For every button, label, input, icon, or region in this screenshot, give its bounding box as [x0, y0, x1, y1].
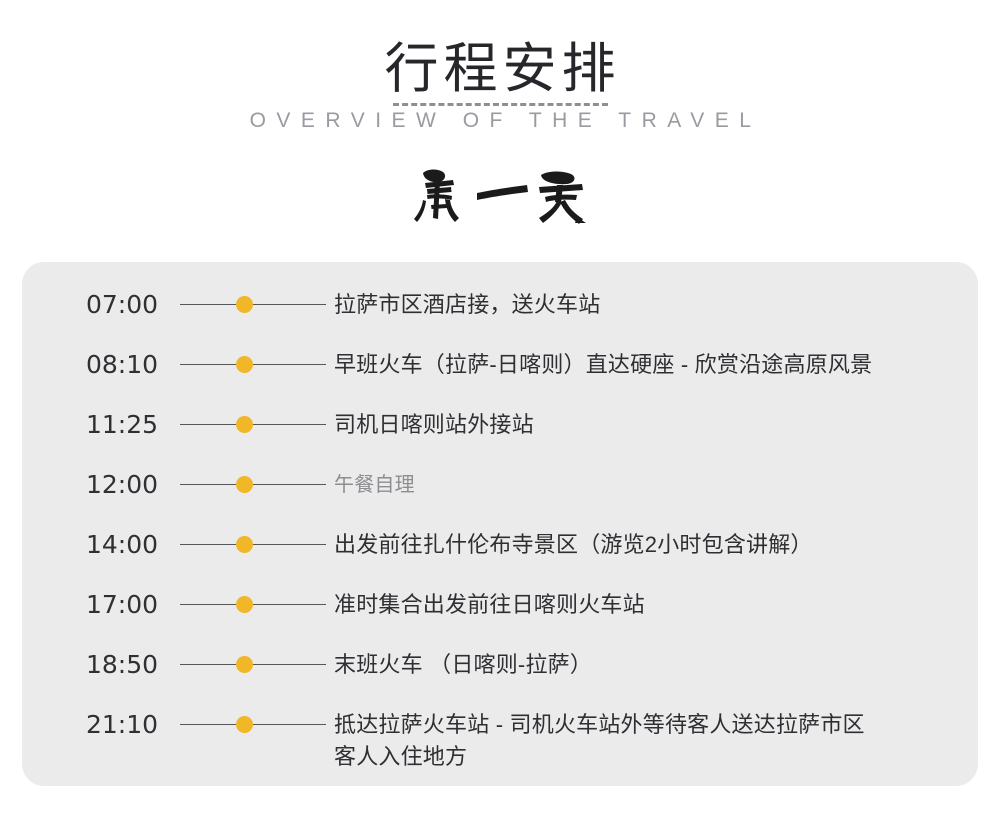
- timeline-dot-icon: [236, 356, 253, 373]
- timeline-line: [180, 484, 326, 485]
- timeline-line: [180, 304, 326, 305]
- itinerary-rows: 07:00拉萨市区酒店接，送火车站08:10早班火车（拉萨-日喀则）直达硬座 -…: [22, 276, 978, 784]
- title-dashed-divider: [393, 103, 608, 106]
- timeline-description: 拉萨市区酒店接，送火车站: [334, 276, 978, 321]
- timeline-description: 早班火车（拉萨-日喀则）直达硬座 - 欣赏沿途高原风景: [334, 336, 978, 381]
- timeline-description: 出发前往扎什伦布寺景区（游览2小时包含讲解）: [334, 516, 978, 561]
- timeline-connector: [162, 396, 334, 456]
- page-header: 行程安排 OVERVIEW OF THE TRAVEL: [0, 0, 1000, 135]
- timeline-description: 抵达拉萨火车站 - 司机火车站外等待客人送达拉萨市区 客人入住地方: [334, 696, 978, 773]
- timeline-row: 08:10早班火车（拉萨-日喀则）直达硬座 - 欣赏沿途高原风景: [22, 336, 978, 396]
- timeline-line: [180, 364, 326, 365]
- day-heading: [0, 161, 1000, 235]
- timeline-time: 14:00: [22, 516, 162, 562]
- timeline-time: 08:10: [22, 336, 162, 382]
- page-subtitle: OVERVIEW OF THE TRAVEL: [0, 107, 1000, 135]
- timeline-row: 11:25司机日喀则站外接站: [22, 396, 978, 456]
- timeline-connector: [162, 516, 334, 576]
- page-title: 行程安排: [0, 40, 1000, 98]
- timeline-dot-icon: [236, 536, 253, 553]
- timeline-connector: [162, 636, 334, 696]
- timeline-connector: [162, 696, 334, 756]
- timeline-row: 14:00出发前往扎什伦布寺景区（游览2小时包含讲解）: [22, 516, 978, 576]
- itinerary-panel: 07:00拉萨市区酒店接，送火车站08:10早班火车（拉萨-日喀则）直达硬座 -…: [22, 262, 978, 786]
- timeline-dot-icon: [236, 716, 253, 733]
- timeline-time: 17:00: [22, 576, 162, 622]
- timeline-dot-icon: [236, 656, 253, 673]
- timeline-line: [180, 544, 326, 545]
- timeline-time: 11:25: [22, 396, 162, 442]
- timeline-connector: [162, 276, 334, 336]
- timeline-row: 21:10抵达拉萨火车站 - 司机火车站外等待客人送达拉萨市区 客人入住地方: [22, 696, 978, 784]
- timeline-dot-icon: [236, 596, 253, 613]
- timeline-dot-icon: [236, 296, 253, 313]
- timeline-row: 17:00准时集合出发前往日喀则火车站: [22, 576, 978, 636]
- timeline-time: 07:00: [22, 276, 162, 322]
- timeline-line: [180, 664, 326, 665]
- timeline-line: [180, 424, 326, 425]
- timeline-line: [180, 604, 326, 605]
- timeline-time: 21:10: [22, 696, 162, 742]
- day-one-calligraphy-icon: [405, 161, 595, 231]
- timeline-row: 12:00午餐自理: [22, 456, 978, 516]
- timeline-description: 司机日喀则站外接站: [334, 396, 978, 441]
- timeline-connector: [162, 576, 334, 636]
- timeline-time: 12:00: [22, 456, 162, 502]
- timeline-connector: [162, 336, 334, 396]
- timeline-time: 18:50: [22, 636, 162, 682]
- timeline-description: 午餐自理: [334, 456, 978, 501]
- timeline-connector: [162, 456, 334, 516]
- timeline-description: 末班火车 （日喀则-拉萨）: [334, 636, 978, 681]
- timeline-dot-icon: [236, 416, 253, 433]
- timeline-dot-icon: [236, 476, 253, 493]
- timeline-line: [180, 724, 326, 725]
- timeline-description: 准时集合出发前往日喀则火车站: [334, 576, 978, 621]
- timeline-row: 07:00拉萨市区酒店接，送火车站: [22, 276, 978, 336]
- timeline-row: 18:50末班火车 （日喀则-拉萨）: [22, 636, 978, 696]
